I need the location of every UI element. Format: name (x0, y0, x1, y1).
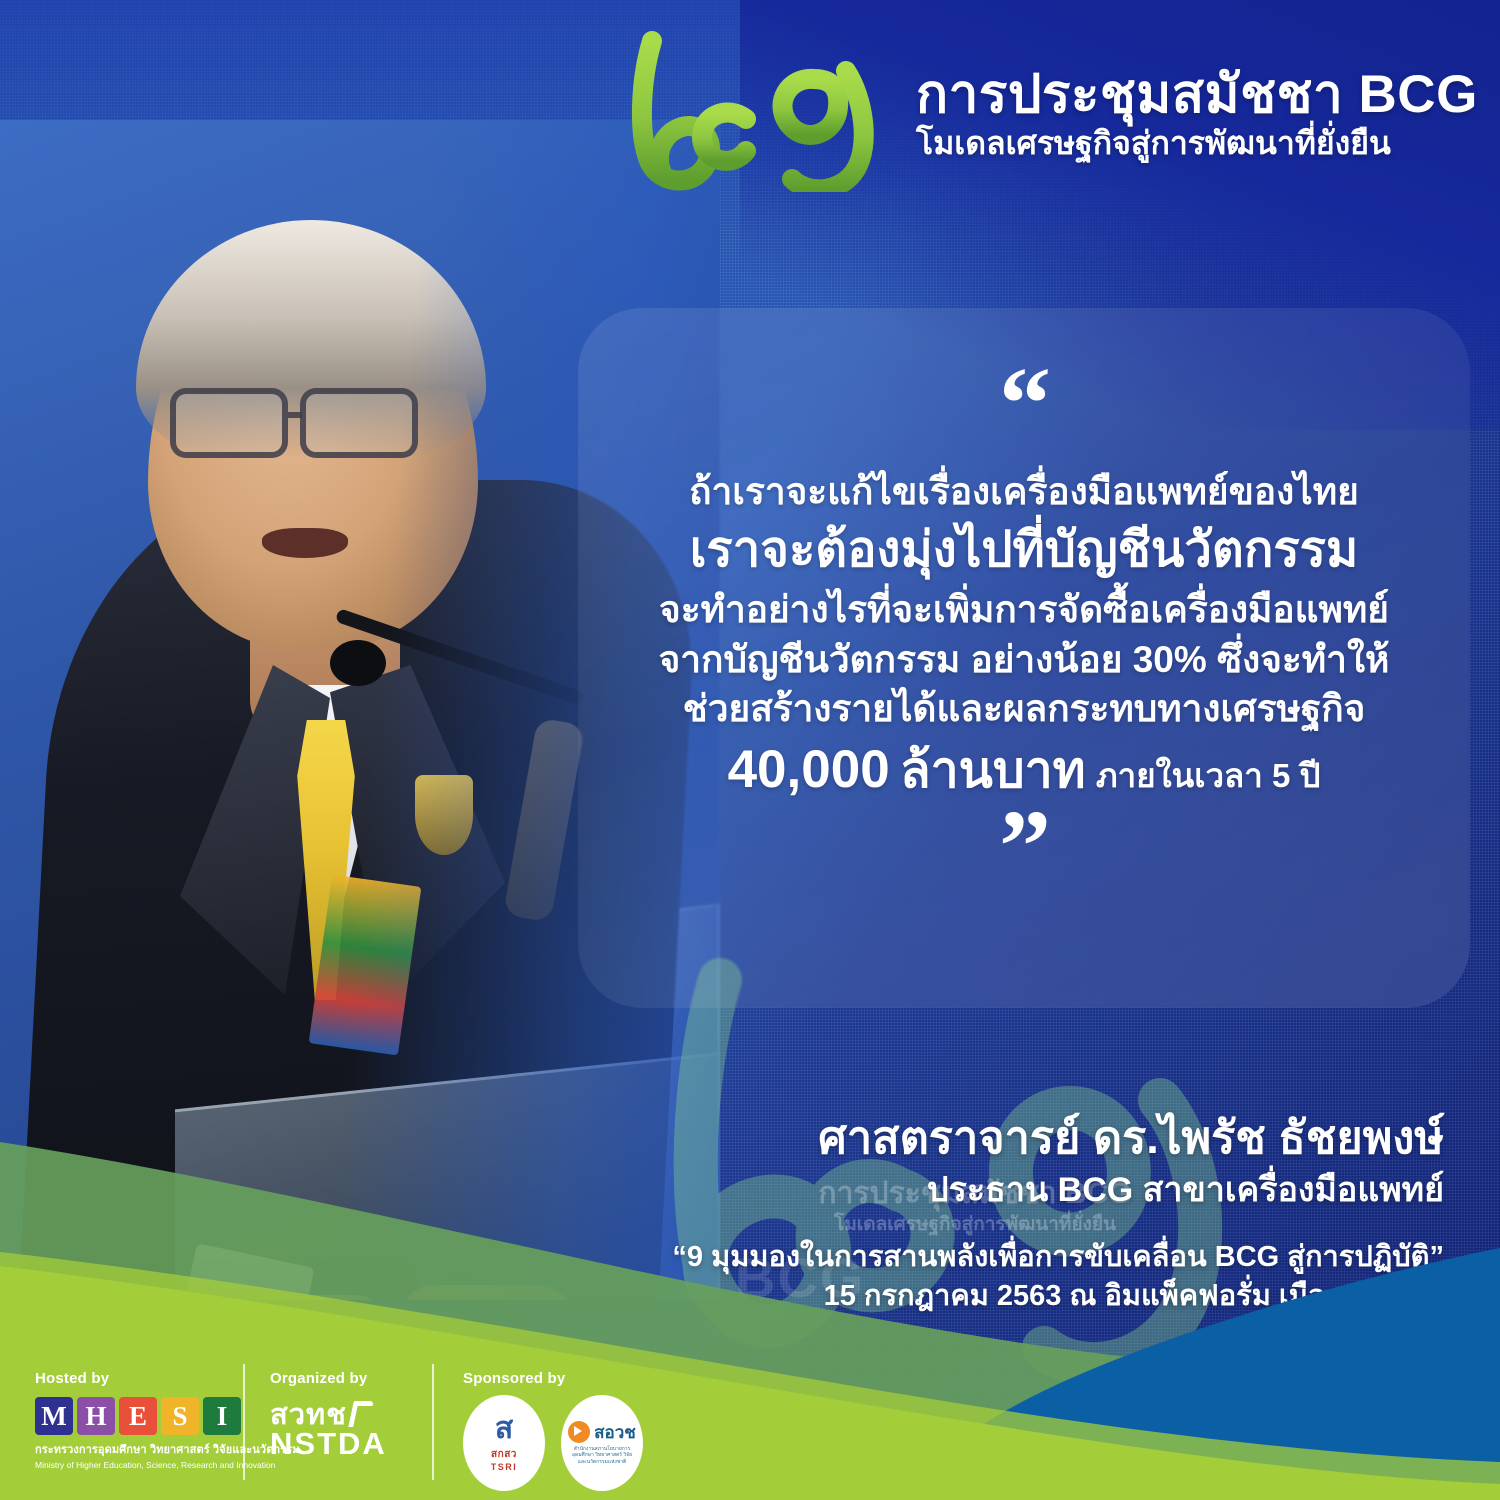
organized-by-label: Organized by (270, 1370, 387, 1387)
tsri-thai-name: สกสว (491, 1447, 517, 1462)
header-text-block: การประชุมสมัชชา BCG โมเดลเศรษฐกิจสู่การพ… (916, 55, 1478, 163)
sovo-arrow-icon (568, 1421, 590, 1443)
nstda-english-name: NSTDA (270, 1428, 387, 1459)
footer-organized-column: Organized by สวทช NSTDA (270, 1370, 387, 1500)
page-subtitle: โมเดลเศรษฐกิจสู่การพัฒนาที่ยั่งยืน (916, 124, 1478, 162)
sovo-logo[interactable]: สอวช สำนักงานสภานโยบายการอุดมศึกษา วิทยา… (561, 1395, 643, 1491)
quote-line-3: จะทำอย่างไรที่จะเพิ่มการจัดซื้อเครื่องมื… (659, 585, 1389, 635)
footer-divider-2 (432, 1364, 434, 1480)
quote-close-mark: ” (999, 811, 1049, 884)
bcg-logo-icon (628, 27, 890, 192)
footer-sponsored-column: Sponsored by ส สกสว TSRI สอวช สำนักงานสภ… (463, 1370, 643, 1500)
quote-line-2: เราจะต้องมุ่งไปที่บัญชีนวัตกรรม (690, 516, 1359, 585)
tsri-logo[interactable]: ส สกสว TSRI (463, 1395, 545, 1491)
mhesi-thai-name: กระทรวงการอุดมศึกษา วิทยาศาสตร์ วิจัยและ… (35, 1440, 300, 1458)
nstda-logo[interactable]: สวทช NSTDA (270, 1401, 387, 1459)
mhesi-english-name: Ministry of Higher Education, Science, R… (35, 1460, 300, 1470)
mhesi-letter-h: H (77, 1397, 115, 1435)
quote-body: ถ้าเราจะแก้ไขเรื่องเครื่องมือแพทย์ของไทย… (612, 467, 1436, 805)
hosted-by-label: Hosted by (35, 1370, 300, 1387)
quote-line-4: จากบัญชีนวัตกรรม อย่างน้อย 30% ซึ่งจะทำใ… (659, 635, 1390, 685)
sovo-subtitle: สำนักงานสภานโยบายการอุดมศึกษา วิทยาศาสตร… (568, 1446, 636, 1465)
poster-canvas: การประชุมสมัชชา BCG โมเดลเศรษฐกิจสู่การพ… (0, 0, 1500, 1500)
mhesi-letter-e: E (119, 1397, 157, 1435)
mhesi-letter-row: M H E S I (35, 1397, 300, 1435)
sponsor-logo-row: ส สกสว TSRI สอวช สำนักงานสภานโยบายการอุด… (463, 1395, 643, 1491)
sovo-thai-name: สอวช (594, 1424, 636, 1441)
mhesi-logo[interactable]: M H E S I กระทรวงการอุดมศึกษา วิทยาศาสตร… (35, 1397, 300, 1470)
quote-amount-unit: ล้านบาท (900, 742, 1086, 798)
quote-card: “ ถ้าเราจะแก้ไขเรื่องเครื่องมือแพทย์ของไ… (578, 308, 1470, 1008)
quote-line-5: ช่วยสร้างรายได้และผลกระทบทางเศรษฐกิจ (683, 684, 1366, 734)
page-title: การประชุมสมัชชา BCG (916, 65, 1478, 124)
sovo-wordmark: สอวช (568, 1421, 636, 1443)
header: การประชุมสมัชชา BCG โมเดลเศรษฐกิจสู่การพ… (628, 24, 1478, 194)
quote-card-inner: “ ถ้าเราจะแก้ไขเรื่องเครื่องมือแพทย์ของไ… (578, 308, 1470, 1008)
tsri-glyph-icon: ส (495, 1414, 513, 1444)
mhesi-letter-i: I (203, 1397, 241, 1435)
footer-divider-1 (243, 1364, 245, 1480)
nstda-swoosh-icon (348, 1401, 374, 1427)
tsri-english-name: TSRI (491, 1462, 518, 1472)
sponsored-by-label: Sponsored by (463, 1370, 643, 1387)
footer: Hosted by M H E S I กระทรวงการอุดมศึกษา … (0, 1370, 1500, 1500)
quote-amount-tail: ภายในเวลา 5 ปี (1096, 757, 1321, 794)
quote-open-mark: “ (999, 368, 1049, 441)
quote-amount-number: 40,000 (728, 740, 890, 799)
mhesi-letter-s: S (161, 1397, 199, 1435)
footer-hosted-column: Hosted by M H E S I กระทรวงการอุดมศึกษา … (35, 1370, 300, 1500)
quote-line-1: ถ้าเราจะแก้ไขเรื่องเครื่องมือแพทย์ของไทย (689, 467, 1359, 517)
mhesi-letter-m: M (35, 1397, 73, 1435)
